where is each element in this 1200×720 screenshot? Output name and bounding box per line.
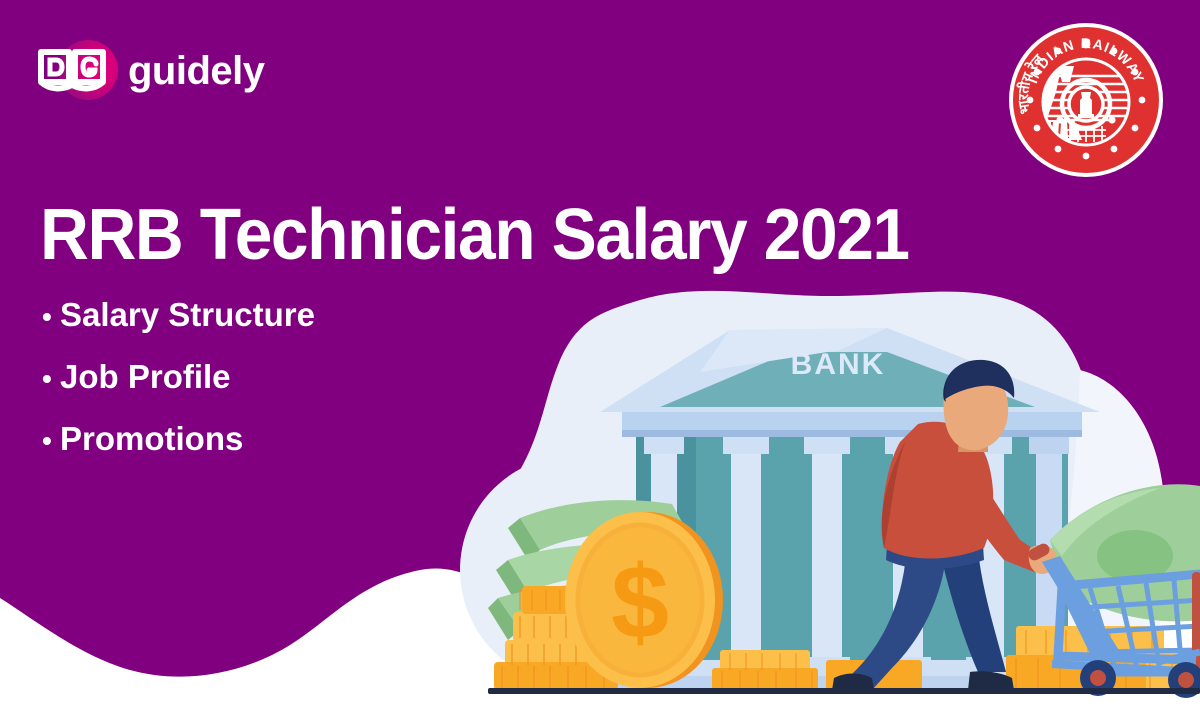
bullet-item: • Salary Structure bbox=[42, 298, 315, 331]
bullet-item: • Promotions bbox=[42, 422, 315, 455]
indian-railway-logo: INDIAN RAILWAY भारतीय रेल bbox=[1008, 22, 1164, 178]
banner-root: BANK bbox=[0, 0, 1200, 720]
bullet-item: • Job Profile bbox=[42, 360, 315, 393]
brand-name: guidely bbox=[128, 51, 265, 91]
feature-bullet-list: • Salary Structure • Job Profile • Promo… bbox=[42, 298, 315, 484]
bullet-marker-icon: • bbox=[42, 365, 60, 393]
ground-line bbox=[488, 688, 1200, 694]
brand-logo[interactable]: guidely bbox=[38, 40, 265, 102]
bullet-marker-icon: • bbox=[42, 303, 60, 331]
bank-sign-text: BANK bbox=[791, 348, 886, 381]
page-title: RRB Technician Salary 2021 bbox=[40, 198, 909, 274]
bullet-label: Job Profile bbox=[60, 360, 231, 393]
open-book-dg-icon bbox=[38, 40, 112, 102]
bullet-label: Salary Structure bbox=[60, 298, 315, 331]
coin-dollar-symbol: $ bbox=[611, 545, 669, 661]
book-glyph bbox=[38, 48, 112, 96]
gold-dollar-coin: $ bbox=[565, 512, 723, 688]
bank-architrave-shadow bbox=[622, 430, 1082, 437]
bullet-marker-icon: • bbox=[42, 427, 60, 455]
bullet-label: Promotions bbox=[60, 422, 243, 455]
